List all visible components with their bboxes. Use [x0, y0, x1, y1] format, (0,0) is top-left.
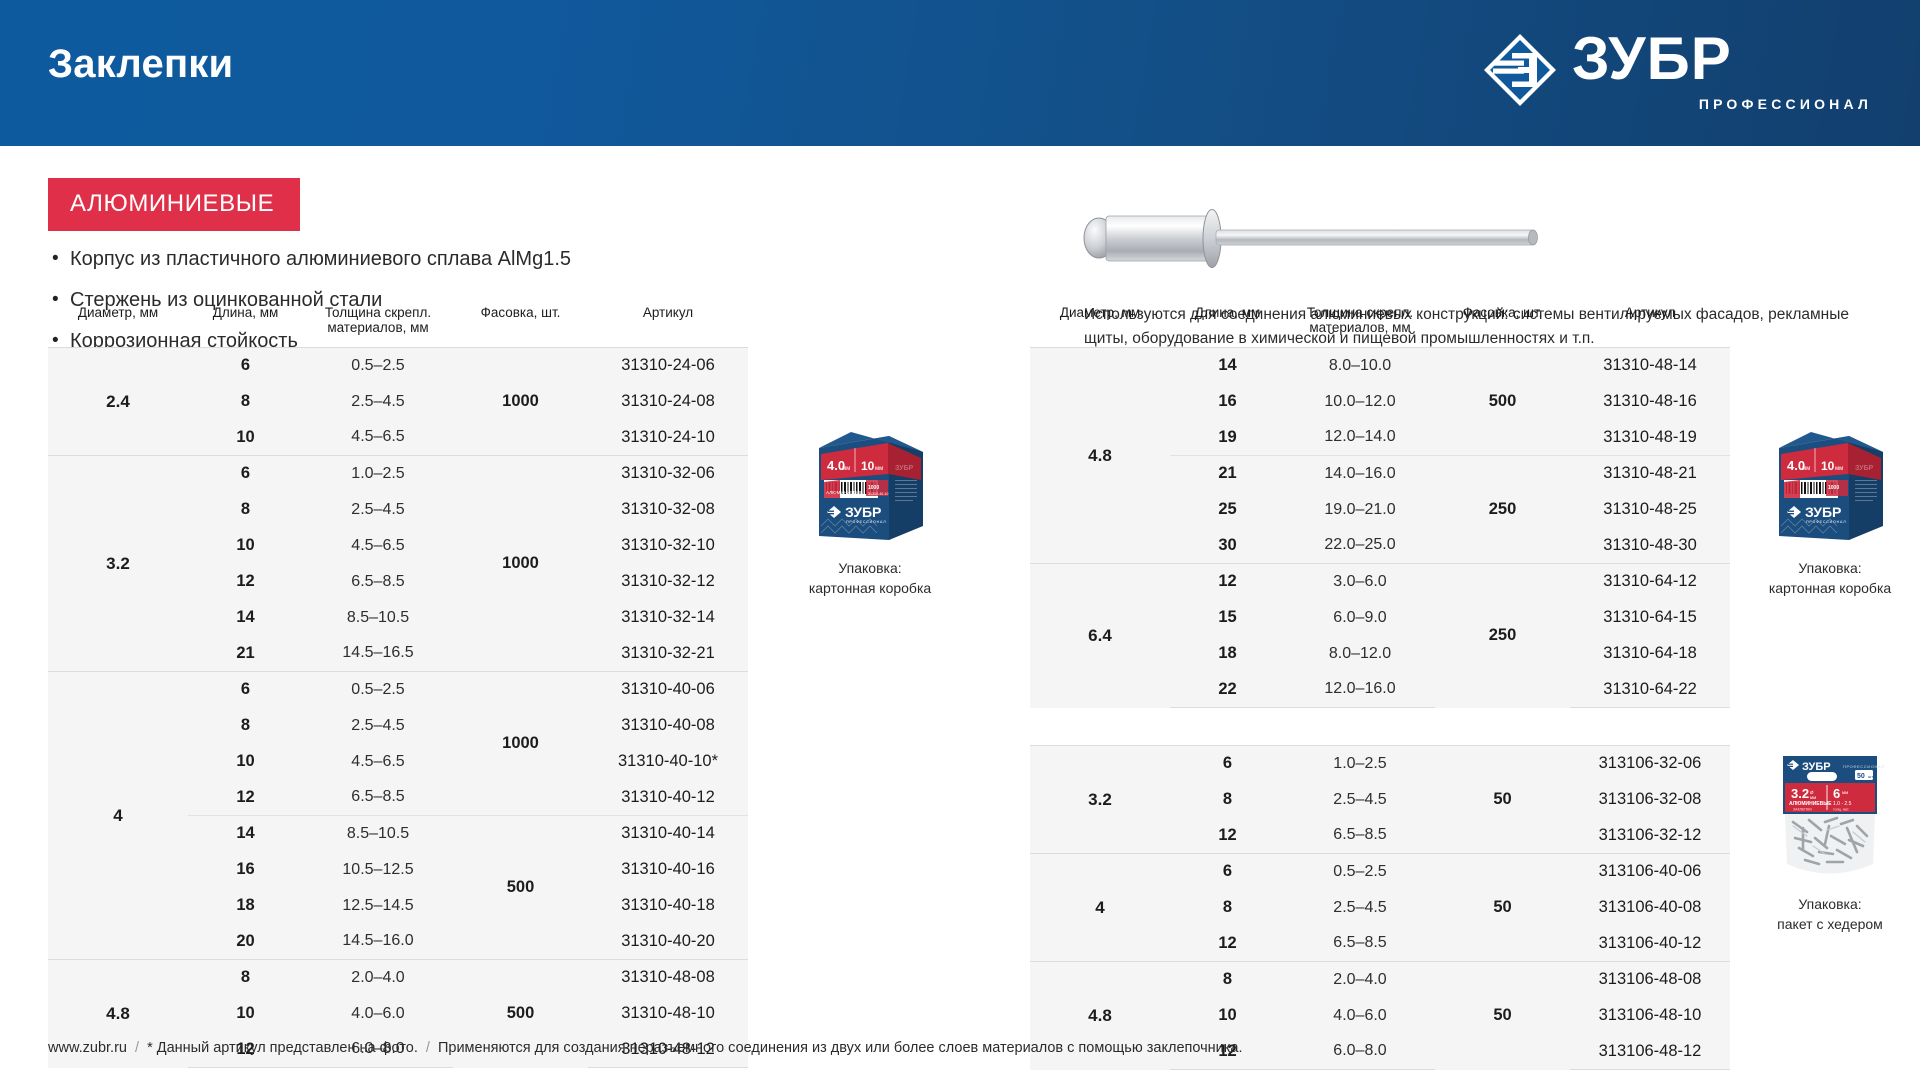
svg-text:1000: 1000 — [1828, 485, 1839, 491]
cell-article: 31310-32-12 — [588, 564, 748, 600]
cell-article: 313106-32-06 — [1570, 746, 1730, 782]
cell-thickness: 8.5–10.5 — [303, 816, 453, 852]
cell-article: 31310-48-14 — [1570, 348, 1730, 384]
cell-length: 14 — [188, 816, 303, 852]
cell-thickness: 2.5–4.5 — [1285, 890, 1435, 926]
cell-length: 6 — [1170, 854, 1285, 890]
cell-article: 31310-48-30 — [1570, 528, 1730, 564]
cell-article: 31310-48-25 — [1570, 492, 1730, 528]
cell-packing: 50 — [1435, 962, 1570, 1070]
cell-article: 31310-40-20 — [588, 924, 748, 960]
table-row: 4.882.0–4.050031310-48-08 — [48, 960, 748, 996]
col-header-packing: Фасовка, шт. — [1435, 305, 1570, 348]
cell-article: 31310-48-19 — [1570, 420, 1730, 456]
cell-length: 22 — [1170, 672, 1285, 708]
cell-length: 19 — [1170, 420, 1285, 456]
cell-thickness: 6.0–9.0 — [1285, 600, 1435, 636]
cell-length: 16 — [188, 852, 303, 888]
cell-length: 21 — [1170, 456, 1285, 492]
cell-article: 31310-40-12 — [588, 780, 748, 816]
svg-text:1000: 1000 — [868, 485, 879, 491]
page-header: Заклепки ЗУБР ПРОФЕССИОНАЛ — [0, 0, 1920, 146]
cell-length: 12 — [1170, 818, 1285, 854]
cell-packing: 250 — [1435, 456, 1570, 564]
col-header-thickness: Толщина скрепл.материалов, мм — [303, 305, 453, 348]
cell-length: 12 — [1170, 564, 1285, 600]
cell-article: 313106-32-08 — [1570, 782, 1730, 818]
cell-length: 16 — [1170, 384, 1285, 420]
cell-packing: 1000 — [453, 672, 588, 816]
cell-thickness: 4.0–6.0 — [303, 996, 453, 1032]
table-row: 3.261.0–2.550313106-32-06 — [1030, 746, 1730, 782]
table-row: 460.5–2.5100031310-40-06 — [48, 672, 748, 708]
col-header-article: Артикул — [1570, 305, 1730, 348]
cell-length: 10 — [188, 744, 303, 780]
cell-article: 313106-32-12 — [1570, 818, 1730, 854]
cell-thickness: 8.5–10.5 — [303, 600, 453, 636]
svg-text:1.0 - 2.5: 1.0 - 2.5 — [1833, 801, 1852, 807]
cell-packing: 500 — [453, 816, 588, 960]
cell-diameter: 6.4 — [1030, 564, 1170, 708]
col-header-thickness: Толщина скрепл.материалов, мм — [1285, 305, 1435, 348]
cell-length: 8 — [1170, 890, 1285, 926]
cell-thickness: 14.0–16.0 — [1285, 456, 1435, 492]
cell-thickness: 6.5–8.5 — [1285, 926, 1435, 962]
cell-article: 313106-40-12 — [1570, 926, 1730, 962]
cell-thickness: 6.5–8.5 — [303, 780, 453, 816]
cell-length: 10 — [1170, 998, 1285, 1034]
package-caption-line1: Упаковка: — [770, 558, 970, 578]
svg-text:мм: мм — [1842, 790, 1848, 795]
cell-article: 31310-40-10* — [588, 744, 748, 780]
cell-diameter: 3.2 — [1030, 746, 1170, 854]
footer-site[interactable]: www.zubr.ru — [48, 1040, 127, 1056]
cell-length: 10 — [188, 528, 303, 564]
svg-text:мм: мм — [1802, 466, 1810, 472]
cell-packing: 500 — [1435, 348, 1570, 456]
cell-thickness: 2.0–4.0 — [303, 960, 453, 996]
package-block-box-left: 4.0 мм 10 мм АЛЮМИНИЕВЫЕ — [770, 418, 970, 598]
svg-text:АЛЮМИНИЕВЫЕ: АЛЮМИНИЕВЫЕ — [1789, 801, 1832, 807]
package-caption-line2: пакет с хедером — [1755, 914, 1905, 934]
cell-article: 31310-32-21 — [588, 636, 748, 672]
cell-thickness: 6.5–8.5 — [1285, 818, 1435, 854]
header-bag-image: ЗУБР ПРОФЕССИОНАЛ 50 шт 3.2 Ø мм АЛЮМИНИ… — [1769, 752, 1891, 882]
cell-length: 8 — [188, 492, 303, 528]
cell-length: 6 — [188, 348, 303, 384]
package-caption: Упаковка: картонная коробка — [770, 558, 970, 598]
cell-article: 31310-40-08 — [588, 708, 748, 744]
cell-article: 313106-48-10 — [1570, 998, 1730, 1034]
svg-text:толщ. мат.: толщ. мат. — [1833, 808, 1849, 812]
package-caption-line1: Упаковка: — [1760, 558, 1900, 578]
cell-article: 31310-32-06 — [588, 456, 748, 492]
cell-length: 14 — [1170, 348, 1285, 384]
cardboard-box-image: 4.0 мм 10 мм 10 — [1771, 418, 1889, 546]
page-title: Заклепки — [48, 42, 233, 87]
svg-text:мм: мм — [1835, 466, 1843, 472]
list-item: • Корпус из пластичного алюминиевого спл… — [52, 246, 672, 272]
cell-length: 14 — [188, 600, 303, 636]
cell-thickness: 12.5–14.5 — [303, 888, 453, 924]
cell-article: 31310-48-21 — [1570, 456, 1730, 492]
cell-thickness: 12.0–16.0 — [1285, 672, 1435, 708]
feature-text: Корпус из пластичного алюминиевого сплав… — [70, 246, 571, 272]
cell-article: 31310-40-16 — [588, 852, 748, 888]
cell-article: 31310-64-22 — [1570, 672, 1730, 708]
col-header-article: Артикул — [588, 305, 748, 348]
cell-length: 8 — [1170, 782, 1285, 818]
cell-packing: 1000 — [453, 348, 588, 456]
cell-thickness: 2.5–4.5 — [303, 492, 453, 528]
package-caption: Упаковка: пакет с хедером — [1755, 894, 1905, 934]
cell-thickness: 2.5–4.5 — [303, 708, 453, 744]
footer-note-1: * Данный артикул представлен на фото. — [147, 1040, 418, 1056]
cell-packing: 250 — [1435, 564, 1570, 708]
cell-thickness: 6.0–8.0 — [1285, 1034, 1435, 1070]
cell-thickness: 0.5–2.5 — [1285, 854, 1435, 890]
cell-article: 31310-40-14 — [588, 816, 748, 852]
col-header-length: Длина, мм — [1170, 305, 1285, 348]
cell-length: 8 — [188, 708, 303, 744]
cell-thickness: 1.0–2.5 — [1285, 746, 1435, 782]
rivet-product-image — [1072, 168, 1572, 273]
cell-length: 25 — [1170, 492, 1285, 528]
product-datasheet-page: Заклепки ЗУБР ПРОФЕССИОНАЛ АЛЮМИНИЕВЫЕ •… — [0, 0, 1920, 1080]
package-caption-line1: Упаковка: — [1755, 894, 1905, 914]
cell-packing: 1000 — [453, 456, 588, 672]
cell-article: 31310-64-12 — [1570, 564, 1730, 600]
cell-article: 31310-64-18 — [1570, 636, 1730, 672]
cell-thickness: 2.5–4.5 — [1285, 782, 1435, 818]
package-block-bag-right: ЗУБР ПРОФЕССИОНАЛ 50 шт 3.2 Ø мм АЛЮМИНИ… — [1755, 752, 1905, 934]
cell-article: 31310-32-08 — [588, 492, 748, 528]
cell-length: 10 — [188, 420, 303, 456]
cell-length: 18 — [188, 888, 303, 924]
cell-thickness: 19.0–21.0 — [1285, 492, 1435, 528]
svg-text:шт: шт — [1868, 774, 1873, 779]
cell-thickness: 14.5–16.0 — [303, 924, 453, 960]
zubr-arrow-diamond-icon — [1482, 32, 1558, 108]
cell-diameter: 4 — [48, 672, 188, 960]
col-header-diameter: Диаметр, мм — [1030, 305, 1170, 348]
specs-table-right-top: Диаметр, ммДлина, ммТолщина скрепл.матер… — [1030, 305, 1730, 708]
specs-table-right-bottom: Диаметр, ммДлина, ммТолщина скрепл.матер… — [1030, 745, 1730, 1070]
svg-text:АЛЮМИНИЕВЫЕ: АЛЮМИНИЕВЫЕ — [826, 490, 863, 495]
cell-thickness: 2.5–4.5 — [303, 384, 453, 420]
svg-text:6: 6 — [1833, 786, 1840, 801]
cell-length: 12 — [188, 780, 303, 816]
table-row: 6.4123.0–6.025031310-64-12 — [1030, 564, 1730, 600]
cell-length: 10 — [188, 996, 303, 1032]
footer-separator: / — [131, 1040, 143, 1056]
specs-table-left: Диаметр, ммДлина, ммТолщина скрепл.матер… — [48, 305, 748, 1068]
cell-thickness: 1.0–2.5 — [303, 456, 453, 492]
cell-length: 8 — [1170, 962, 1285, 998]
cell-diameter: 4.8 — [1030, 348, 1170, 564]
cell-article: 31310-48-16 — [1570, 384, 1730, 420]
cell-thickness: 4.5–6.5 — [303, 420, 453, 456]
svg-text:мм: мм — [875, 466, 883, 472]
svg-text:50: 50 — [1857, 773, 1865, 780]
cell-thickness: 0.5–2.5 — [303, 672, 453, 708]
cardboard-box-image: 4.0 мм 10 мм АЛЮМИНИЕВЫЕ — [811, 418, 929, 546]
svg-text:31310-40-10: 31310-40-10 — [868, 492, 888, 496]
cell-article: 313106-40-06 — [1570, 854, 1730, 890]
cell-article: 313106-48-08 — [1570, 962, 1730, 998]
cell-thickness: 4.5–6.5 — [303, 744, 453, 780]
svg-text:мм: мм — [842, 466, 850, 472]
footer: www.zubr.ru / * Данный артикул представл… — [48, 1040, 1243, 1056]
cell-article: 31310-64-15 — [1570, 600, 1730, 636]
cell-thickness: 8.0–10.0 — [1285, 348, 1435, 384]
cell-length: 15 — [1170, 600, 1285, 636]
package-caption-line2: картонная коробка — [770, 578, 970, 598]
table-row: 460.5–2.550313106-40-06 — [1030, 854, 1730, 890]
cell-article: 313106-48-12 — [1570, 1034, 1730, 1070]
svg-text:ЗУБР: ЗУБР — [845, 504, 881, 520]
cell-thickness: 14.5–16.5 — [303, 636, 453, 672]
cell-length: 6 — [188, 456, 303, 492]
svg-text:10: 10 — [861, 459, 875, 473]
cell-article: 31310-24-10 — [588, 420, 748, 456]
svg-text:ЗУБР: ЗУБР — [895, 465, 914, 472]
cell-article: 31310-32-14 — [588, 600, 748, 636]
cell-thickness: 22.0–25.0 — [1285, 528, 1435, 564]
brand-logo: ЗУБР ПРОФЕССИОНАЛ — [1476, 26, 1876, 122]
cell-thickness: 8.0–12.0 — [1285, 636, 1435, 672]
cell-article: 31310-48-10 — [588, 996, 748, 1032]
cell-length: 21 — [188, 636, 303, 672]
cell-thickness: 4.0–6.0 — [1285, 998, 1435, 1034]
cell-length: 30 — [1170, 528, 1285, 564]
svg-text:10: 10 — [1821, 459, 1835, 473]
svg-text:ЗАКЛЕПКИ: ЗАКЛЕПКИ — [1793, 808, 1812, 812]
brand-name: ЗУБР — [1572, 26, 1732, 92]
cell-length: 12 — [1170, 926, 1285, 962]
svg-text:ЗУБР: ЗУБР — [1805, 504, 1841, 520]
category-badge: АЛЮМИНИЕВЫЕ — [48, 178, 300, 231]
cell-article: 31310-40-06 — [588, 672, 748, 708]
svg-text:ПРОФЕССИОНАЛ: ПРОФЕССИОНАЛ — [1843, 764, 1885, 769]
package-block-box-right: 4.0 мм 10 мм 10 — [1760, 418, 1900, 598]
package-caption-line2: картонная коробка — [1760, 578, 1900, 598]
cell-article: 31310-32-10 — [588, 528, 748, 564]
cell-length: 8 — [188, 384, 303, 420]
cell-article: 31310-48-08 — [588, 960, 748, 996]
col-header-packing: Фасовка, шт. — [453, 305, 588, 348]
cell-article: 31310-24-08 — [588, 384, 748, 420]
cell-packing: 50 — [1435, 854, 1570, 962]
footer-note-2: Применяются для создания неразъемного со… — [438, 1040, 1243, 1056]
svg-text:3.2: 3.2 — [1791, 786, 1809, 801]
cell-article: 31310-40-18 — [588, 888, 748, 924]
col-header-length: Длина, мм — [188, 305, 303, 348]
cell-thickness: 4.5–6.5 — [303, 528, 453, 564]
cell-length: 6 — [188, 672, 303, 708]
col-header-diameter: Диаметр, мм — [48, 305, 188, 348]
cell-article: 313106-40-08 — [1570, 890, 1730, 926]
table-row: 4.8148.0–10.050031310-48-14 — [1030, 348, 1730, 384]
table-row: 3.261.0–2.5100031310-32-06 — [48, 456, 748, 492]
package-caption: Упаковка: картонная коробка — [1760, 558, 1900, 598]
cell-length: 8 — [188, 960, 303, 996]
cell-thickness: 0.5–2.5 — [303, 348, 453, 384]
cell-thickness: 3.0–6.0 — [1285, 564, 1435, 600]
cell-thickness: 2.0–4.0 — [1285, 962, 1435, 998]
bullet-dot-icon: • — [52, 246, 70, 272]
footer-separator: / — [422, 1040, 434, 1056]
cell-thickness: 10.0–12.0 — [1285, 384, 1435, 420]
cell-length: 20 — [188, 924, 303, 960]
cell-packing: 50 — [1435, 746, 1570, 854]
cell-thickness: 6.5–8.5 — [303, 564, 453, 600]
svg-text:ЗУБР: ЗУБР — [1802, 761, 1831, 773]
brand-tagline: ПРОФЕССИОНАЛ — [1699, 96, 1872, 112]
cell-thickness: 10.5–12.5 — [303, 852, 453, 888]
cell-length: 6 — [1170, 746, 1285, 782]
cell-article: 31310-24-06 — [588, 348, 748, 384]
svg-text:ЗУБР: ЗУБР — [1855, 465, 1874, 472]
cell-diameter: 2.4 — [48, 348, 188, 456]
table-row: 4.882.0–4.050313106-48-08 — [1030, 962, 1730, 998]
svg-text:мм: мм — [1810, 795, 1816, 800]
cell-thickness: 12.0–14.0 — [1285, 420, 1435, 456]
cell-length: 12 — [188, 564, 303, 600]
cell-diameter: 4 — [1030, 854, 1170, 962]
cell-length: 18 — [1170, 636, 1285, 672]
cell-diameter: 3.2 — [48, 456, 188, 672]
table-row: 2.460.5–2.5100031310-24-06 — [48, 348, 748, 384]
